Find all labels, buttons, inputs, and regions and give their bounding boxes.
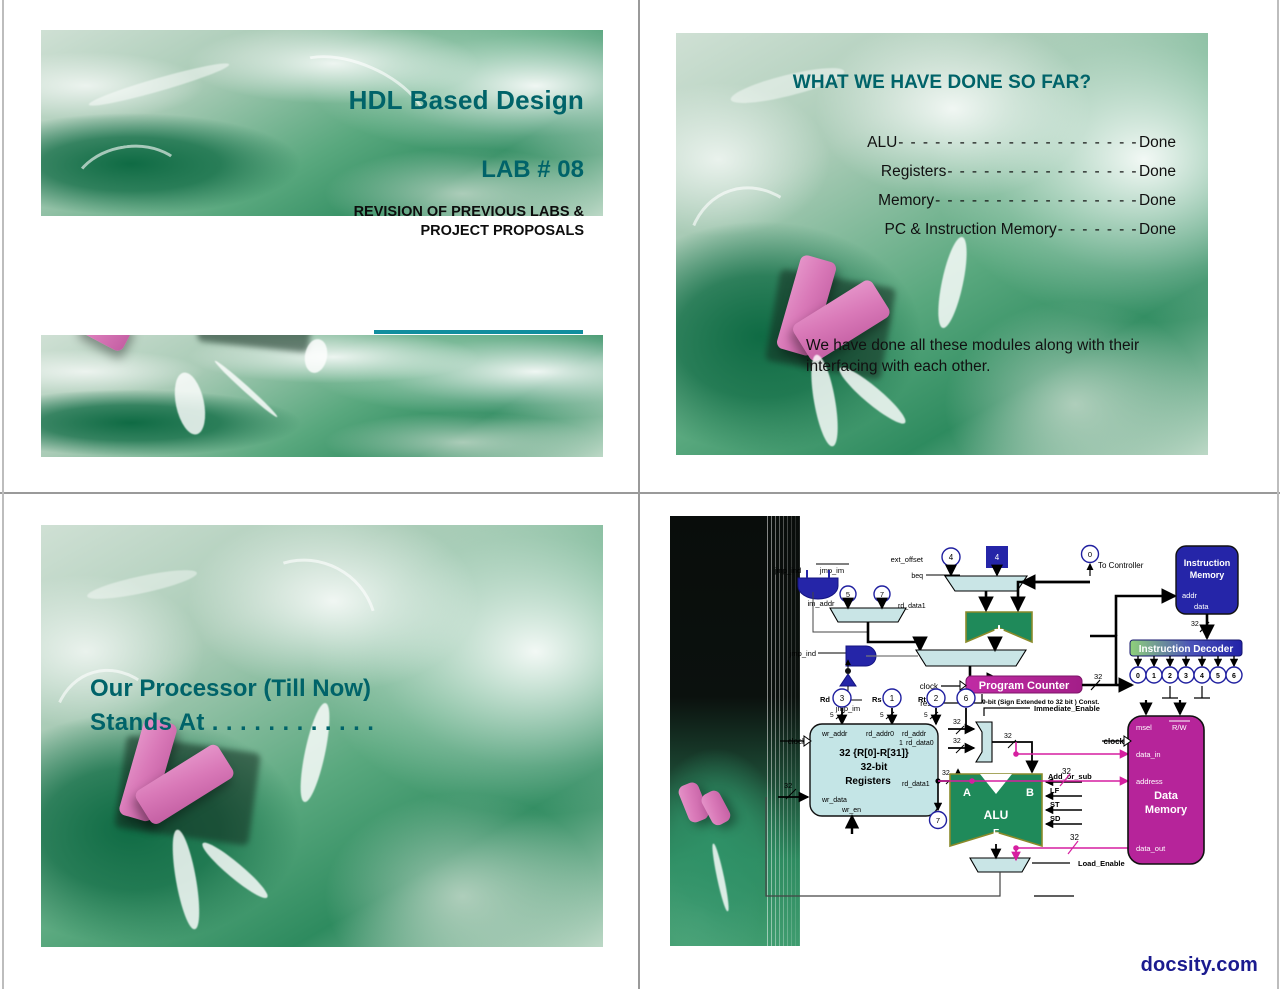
leader-dashes: - - - - - - - - - - - - - - - - - - - - — [897, 134, 1139, 152]
datapath-svg: jmp_ind jmp_im im_addr 5 7 rd_data1 ext_… — [670, 516, 1250, 946]
bubble-dec-4: 4 — [1200, 673, 1204, 680]
list-item: Registers - - - - - - - - - - - - - - - … — [676, 163, 1208, 181]
module-label: Memory — [878, 192, 934, 210]
label-data-out: data_out — [1136, 844, 1166, 853]
mux-writeback — [970, 858, 1030, 872]
bus-width-32-dataout: 32 — [1070, 833, 1079, 842]
list-item: ALU - - - - - - - - - - - - - - - - - - … — [676, 134, 1208, 152]
bubble-7: 7 — [880, 590, 884, 599]
status-badge: Done — [1139, 134, 1176, 152]
page-title: Our Processor (Till Now) Stands At . . .… — [90, 672, 570, 740]
label-wr-addr: wr_addr — [821, 731, 848, 738]
label-program-counter: Program Counter — [979, 680, 1070, 692]
label-jmp-ind: jmp_ind — [774, 566, 801, 575]
label-address: address — [1136, 777, 1163, 786]
label-to-controller: To Controller — [1098, 561, 1144, 570]
status-badge: Done — [1139, 163, 1176, 181]
label-register-file-l1: 32 {R[0]-R[31]} — [839, 748, 909, 759]
mux-immediate — [976, 722, 992, 762]
label-rd-addr1-b: 1 — [899, 740, 903, 747]
decoder-output-bubbles: 0 1 2 3 4 5 6 — [1130, 656, 1242, 683]
status-badge: Done — [1139, 192, 1176, 210]
label-rt: Rt — [918, 695, 926, 704]
label-data-in: data_in — [1136, 750, 1161, 759]
label-rs: Rs — [872, 695, 882, 704]
leader-dashes: - - - - - - - - - - - - - - - - - — [934, 192, 1139, 210]
bus-width-32-im: 32 — [1191, 621, 1199, 628]
label-instruction-memory-l2: Memory — [1190, 570, 1225, 580]
subtitle-line-1: REVISION OF PREVIOUS LABS & — [354, 204, 584, 220]
leader-dashes: - - - - - - - - - - - - - - - - — [946, 163, 1139, 181]
status-list: ALU - - - - - - - - - - - - - - - - - - … — [676, 134, 1208, 250]
bus-width-32-pc: 32 — [1094, 672, 1102, 681]
processor-datapath-diagram: jmp_ind jmp_im im_addr 5 7 rd_data1 ext_… — [670, 516, 1250, 946]
intro-line-1: Our Processor (Till Now) — [90, 675, 371, 702]
bubble-const: 6 — [964, 694, 969, 703]
label-wr-en: wr_en — [841, 807, 861, 814]
slide-handout-page: HDL Based Design LAB # 08 REVISION OF PR… — [0, 0, 1280, 989]
label-alu-a: A — [963, 787, 971, 799]
label-adder-plus: + — [994, 620, 1005, 640]
label-st: ST — [1050, 800, 1060, 809]
mux-pc-source — [916, 650, 1026, 666]
bubble-dec-5: 5 — [1216, 673, 1220, 680]
slide-processor-intro: Our Processor (Till Now) Stands At . . .… — [0, 494, 640, 989]
bubble-rs: 1 — [890, 694, 895, 703]
slide-status: WHAT WE HAVE DONE SO FAR? ALU - - - - - … — [640, 0, 1280, 494]
mux-beq — [945, 576, 1027, 591]
bubble-dec-6: 6 — [1232, 673, 1236, 680]
label-rd: Rd — [820, 695, 830, 704]
docsity-watermark: docsity.com — [1141, 954, 1258, 977]
slide-title: HDL Based Design LAB # 08 REVISION OF PR… — [0, 0, 640, 494]
bus-width-5-c: 5 — [924, 712, 928, 719]
label-ext-offset: ext_offset — [891, 555, 924, 564]
label-data-memory-l2: Memory — [1145, 804, 1188, 816]
label-jmp-im-top: jmp_im — [819, 566, 844, 575]
status-note: We have done all these modules along wit… — [806, 336, 1206, 378]
list-item: PC & Instruction Memory - - - - - - - Do… — [676, 221, 1208, 239]
label-rd-data0: rd_data0 — [906, 740, 934, 747]
label-wr-data: wr_data — [821, 797, 847, 804]
label-alu: ALU — [984, 808, 1009, 822]
label-rw: R/W — [1172, 723, 1188, 732]
title-accent-rule — [374, 330, 583, 334]
bubble-dec-0: 0 — [1136, 673, 1140, 680]
intro-line-2: Stands At . . . . . . . . . . . . — [90, 706, 570, 740]
label-register-file-l2: 32-bit — [861, 762, 888, 773]
status-badge: Done — [1139, 221, 1176, 239]
label-register-file-l3: Registers — [845, 776, 891, 787]
bus-width-32-rddata1: 32 — [942, 770, 950, 777]
title-bottom-photo — [41, 335, 603, 457]
label-lf: LF — [1050, 786, 1060, 795]
module-label: Registers — [881, 163, 946, 181]
page-title: WHAT WE HAVE DONE SO FAR? — [676, 72, 1208, 94]
bubble-4-circle: 4 — [949, 553, 954, 562]
bubble-0-controller: 0 — [1088, 550, 1092, 559]
bubble-dec-1: 1 — [1152, 673, 1156, 680]
label-data: data — [1194, 602, 1209, 611]
bus-width-32-muxout: 32 — [1004, 733, 1012, 740]
label-addr: addr — [1182, 591, 1198, 600]
module-label: ALU — [867, 134, 897, 152]
bubble-dec-3: 3 — [1184, 673, 1188, 680]
label-rd-data1: rd_data1 — [902, 781, 930, 788]
list-item: Memory - - - - - - - - - - - - - - - - -… — [676, 192, 1208, 210]
label-msel: msel — [1136, 723, 1152, 732]
bubble-dec-2: 2 — [1168, 673, 1172, 680]
page-title: HDL Based Design — [60, 85, 584, 116]
bus-width-32-imm-b: 32 — [953, 738, 961, 745]
label-beq: beq — [911, 573, 923, 580]
label-sd: SD — [1050, 814, 1061, 823]
title-top-photo — [41, 30, 603, 216]
bubble-alu-sel: 7 — [936, 816, 940, 825]
bubble-5: 5 — [846, 590, 850, 599]
bus-width-32-imm-a: 32 — [953, 719, 961, 726]
label-jmp-ind-2: jmp_ind — [789, 649, 816, 658]
leader-dashes: - - - - - - - — [1057, 221, 1139, 239]
module-label: PC & Instruction Memory — [884, 221, 1056, 239]
label-immediate-enable: Immediate_Enable — [1034, 704, 1100, 713]
subtitle-line-2: PROJECT PROPOSALS — [420, 223, 584, 239]
label-instruction-decoder: Instruction Decoder — [1139, 644, 1234, 655]
label-instruction-memory-l1: Instruction — [1184, 558, 1231, 568]
label-rd-addr0: rd_addr0 — [866, 731, 894, 738]
bus-width-5-a: 5 — [830, 712, 834, 719]
label-alu-f: F — [993, 828, 999, 839]
label-alu-b: B — [1026, 787, 1034, 799]
label-load-enable: Load_Enable — [1078, 859, 1125, 868]
label-data-memory-l1: Data — [1154, 790, 1179, 802]
bubble-4-square: 4 — [995, 553, 1000, 562]
slide-processor-diagram: jmp_ind jmp_im im_addr 5 7 rd_data1 ext_… — [640, 494, 1280, 989]
bubble-rd: 3 — [840, 694, 845, 703]
bubble-rt: 2 — [934, 694, 939, 703]
label-im-addr: im_addr — [807, 599, 835, 608]
label-rd-addr1-a: rd_addr — [902, 731, 927, 738]
bus-width-32-wrdata: 32 — [784, 781, 792, 790]
bus-width-5-b: 5 — [880, 712, 884, 719]
title-subtitle: REVISION OF PREVIOUS LABS & PROJECT PROP… — [60, 203, 584, 241]
mux-jump-target — [830, 608, 906, 622]
lab-number: LAB # 08 — [60, 156, 584, 184]
